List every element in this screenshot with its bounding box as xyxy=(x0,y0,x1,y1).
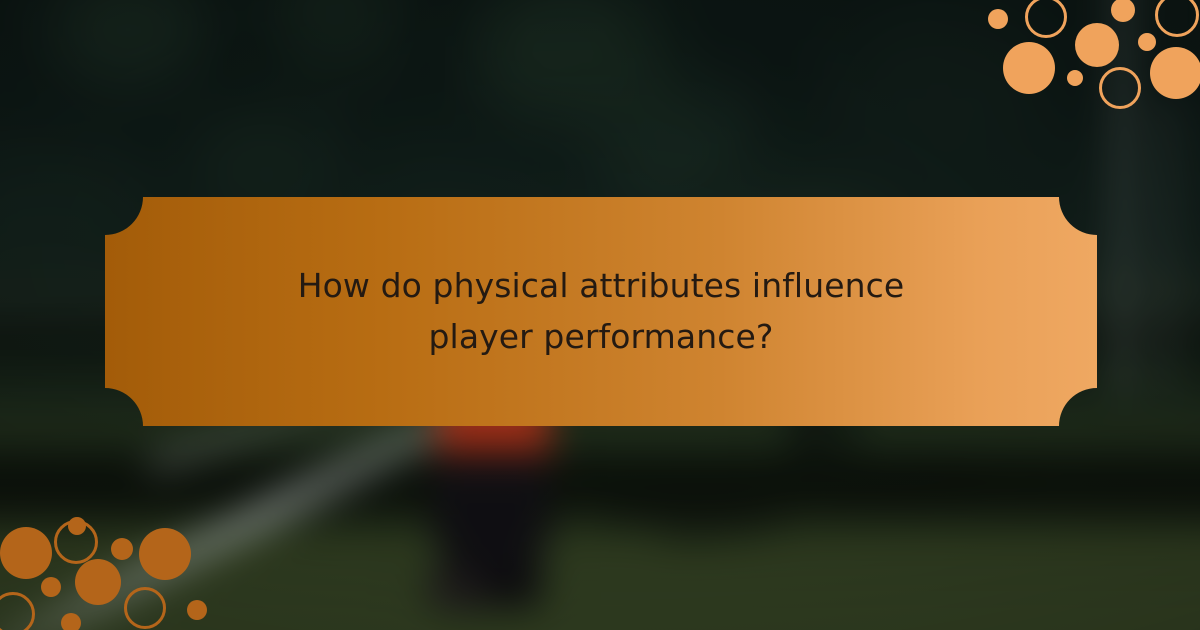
decorative-dot-filled xyxy=(988,9,1008,29)
decorative-dot-filled xyxy=(1075,23,1119,67)
decorative-dot-ring xyxy=(1099,67,1141,109)
decorative-dot-filled xyxy=(0,527,52,579)
decorative-dot-filled xyxy=(61,613,81,630)
decorative-dot-ring xyxy=(1025,0,1067,38)
decorative-dot-ring xyxy=(1155,0,1199,37)
poster-canvas: How do physical attributes influence pla… xyxy=(0,0,1200,630)
decorative-dot-filled xyxy=(1111,0,1135,22)
decorative-dot-ring xyxy=(54,520,98,564)
question-text: How do physical attributes influence pla… xyxy=(105,197,1097,426)
decorative-dots-top-right xyxy=(970,0,1200,120)
decorative-dot-ring xyxy=(124,587,166,629)
decorative-dot-ring xyxy=(0,592,35,630)
decorative-dot-filled xyxy=(1067,70,1083,86)
decorative-dot-filled xyxy=(1003,42,1055,94)
decorative-dot-filled xyxy=(1138,33,1156,51)
decorative-dot-filled xyxy=(41,577,61,597)
decorative-dot-filled xyxy=(139,528,191,580)
question-card: How do physical attributes influence pla… xyxy=(105,197,1097,426)
decorative-dot-filled xyxy=(187,600,207,620)
decorative-dots-bottom-left xyxy=(0,510,230,630)
decorative-dot-filled xyxy=(111,538,133,560)
decorative-dot-filled xyxy=(1150,47,1200,99)
decorative-dot-filled xyxy=(75,559,121,605)
